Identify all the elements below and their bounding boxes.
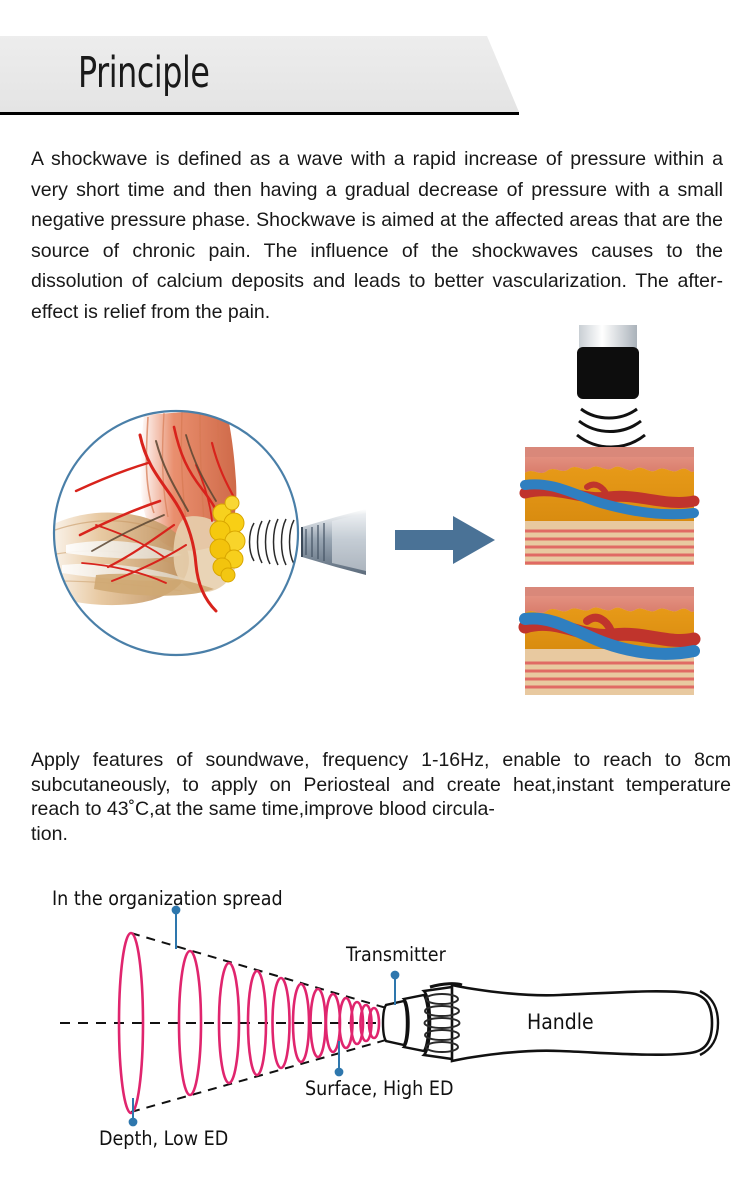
wave-propagation-diagram: In the organization spread Transmitter H…	[0, 865, 750, 1185]
skin-cross-section-top	[517, 325, 702, 585]
page-title: Principle	[78, 44, 210, 102]
illustration-band	[0, 325, 750, 725]
tissue-layers	[525, 447, 694, 565]
elbow-anatomy-illustration	[36, 405, 366, 670]
label-handle: Handle	[527, 1010, 594, 1034]
label-organization-spread: In the organization spread	[52, 887, 283, 910]
anatomy-content	[39, 409, 245, 611]
principle-page: Principle A shockwave is defined as a wa…	[0, 0, 750, 1200]
skin-cross-section-bottom	[517, 583, 702, 698]
header-rule	[0, 112, 519, 115]
right-arrow-icon	[395, 510, 500, 570]
features-paragraph: Apply features of soundwave, frequency 1…	[31, 748, 731, 846]
transmitter-tip	[383, 1001, 407, 1045]
applicator-shaft	[579, 325, 637, 349]
probe-tip	[302, 509, 366, 575]
calcium-deposit	[210, 496, 245, 582]
label-surface-high-ed: Surface, High ED	[305, 1077, 453, 1100]
intro-paragraph: A shockwave is defined as a wave with a …	[31, 144, 723, 327]
features-text-last-line: tion.	[31, 822, 731, 847]
label-depth-low-ed: Depth, Low ED	[99, 1127, 228, 1150]
label-transmitter: Transmitter	[346, 943, 446, 966]
shockwave-arcs	[250, 519, 295, 565]
features-text: Apply features of soundwave, frequency 1…	[31, 749, 731, 820]
applicator-head	[577, 347, 639, 399]
